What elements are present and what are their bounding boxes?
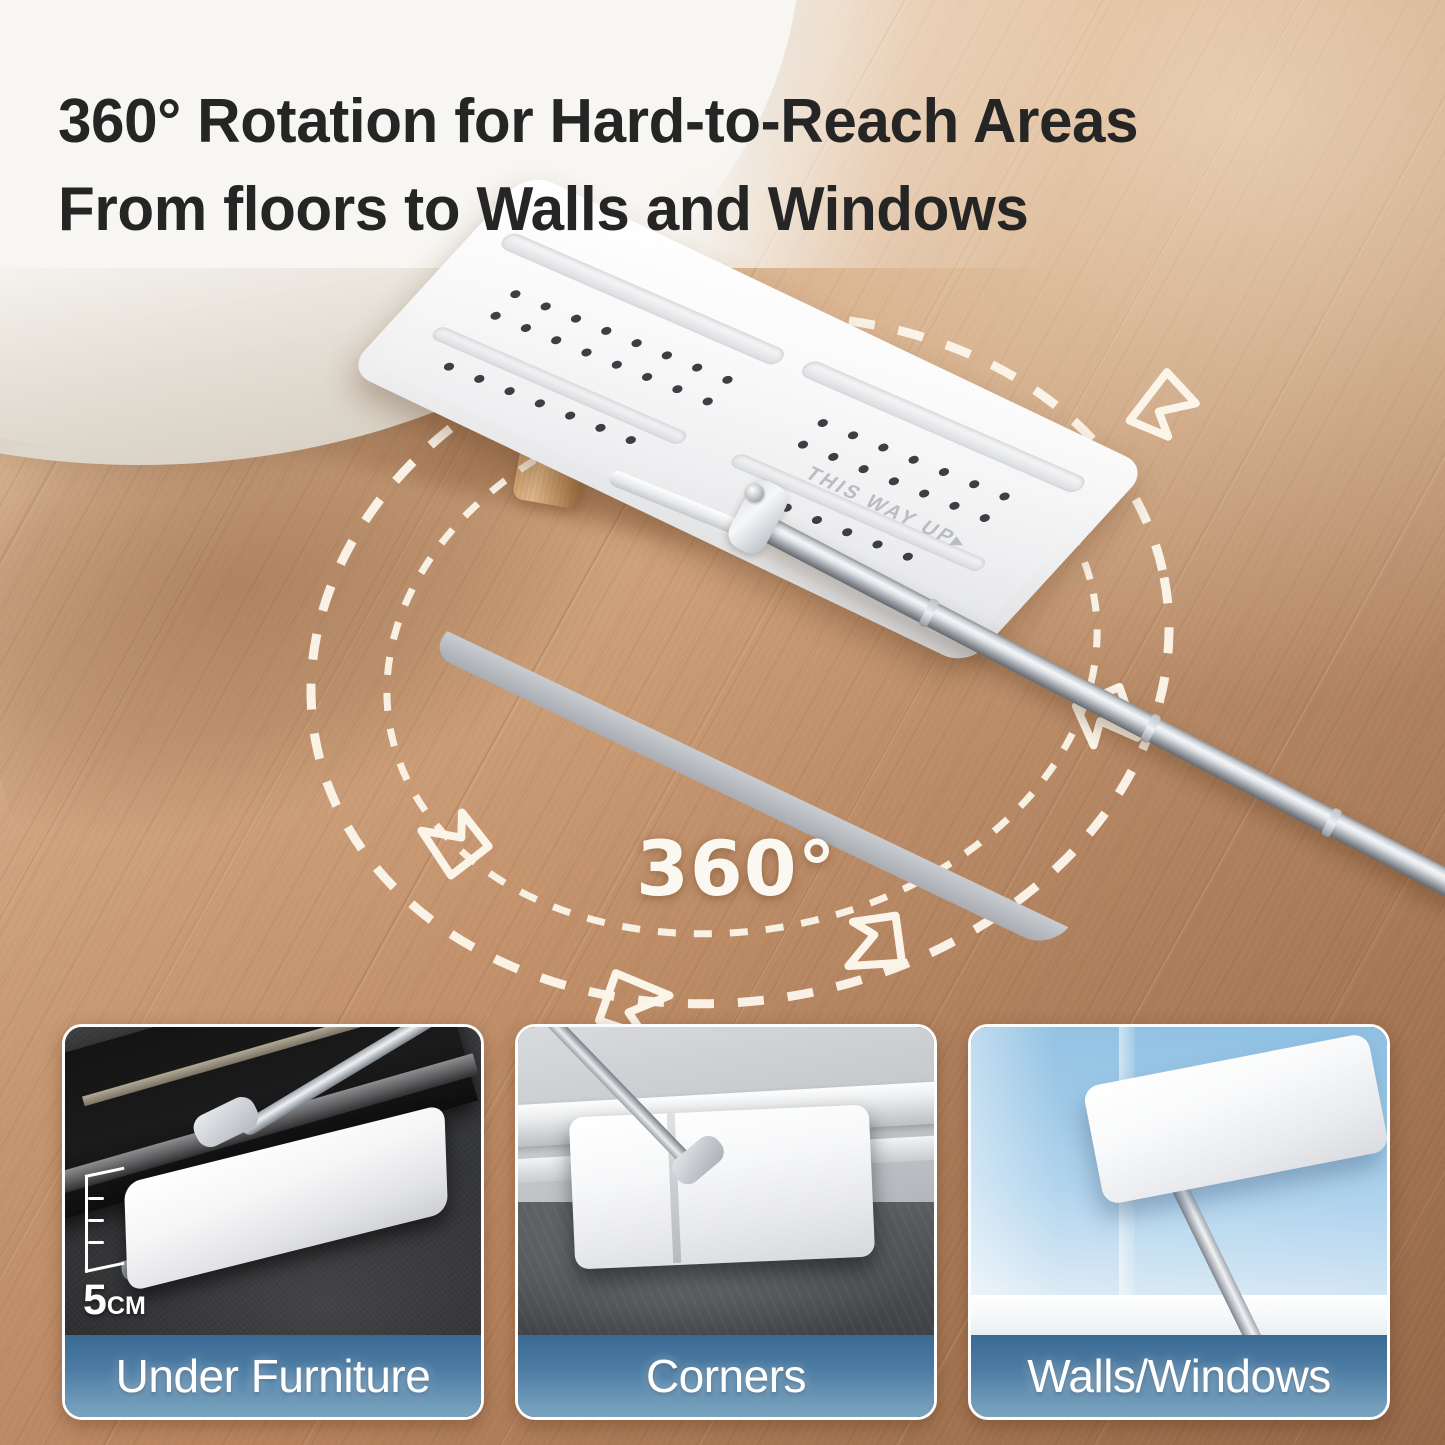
headline: 360° Rotation for Hard-to-Reach Areas Fr…: [58, 78, 1358, 254]
product-feature-image: 360° Rotation for Hard-to-Reach Areas Fr…: [0, 0, 1445, 1445]
panel-2-caption-text: Corners: [646, 1353, 806, 1399]
feature-panel-corners[interactable]: Corners: [515, 1024, 937, 1420]
headline-line-1: 360° Rotation for Hard-to-Reach Areas: [58, 87, 1138, 156]
measurement-label: 5CM: [83, 1279, 146, 1322]
measurement-ruler-icon: [83, 1175, 129, 1273]
measurement-unit: CM: [107, 1292, 146, 1320]
feature-panel-row: 5CM Under Furniture Corners: [0, 1024, 1445, 1424]
rotation-degree-label: 360°: [636, 824, 837, 913]
panel-3-caption-bar: Walls/Windows: [971, 1335, 1387, 1417]
headline-line-2: From floors to Walls and Windows: [58, 166, 1358, 254]
feature-panel-walls-windows[interactable]: Walls/Windows: [968, 1024, 1390, 1420]
measurement-value: 5: [83, 1276, 107, 1324]
panel-3-caption-text: Walls/Windows: [1027, 1353, 1331, 1399]
panel-1-caption-text: Under Furniture: [116, 1353, 431, 1399]
panel-2-caption-bar: Corners: [518, 1335, 934, 1417]
panel-1-caption-bar: Under Furniture: [65, 1335, 481, 1417]
panel-2-mop-head: [569, 1105, 875, 1270]
feature-panel-under-furniture[interactable]: 5CM Under Furniture: [62, 1024, 484, 1420]
